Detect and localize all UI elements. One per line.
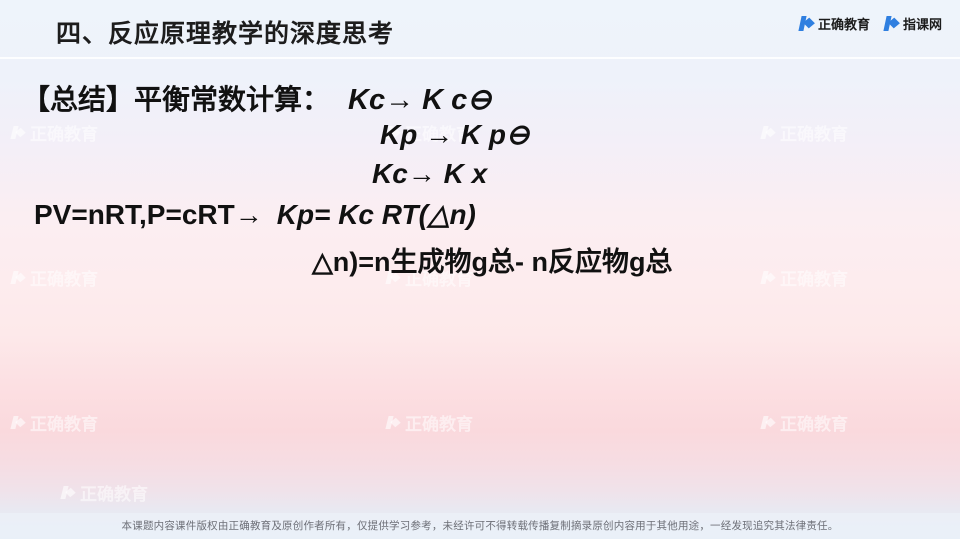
watermark-logo-icon — [60, 485, 75, 500]
brand-bar: 正确教育 指课网 — [799, 14, 942, 33]
watermark: 正确教育 — [760, 120, 848, 145]
brand-zhike: 指课网 — [884, 14, 942, 33]
watermark-logo-icon — [760, 270, 775, 285]
watermark: 正确教育 — [60, 480, 148, 505]
watermark: 正确教育 — [10, 120, 98, 145]
watermark-label: 正确教育 — [30, 410, 98, 435]
equation-kc-ctheta: Kc→ K c⊖ — [348, 84, 492, 116]
slide-canvas: 正确教育 正确教育 正确教育 正确教育 正确教育 正确教育 正确教育 正确教育 … — [0, 0, 960, 539]
watermark-logo-icon — [10, 125, 25, 140]
watermark-logo-icon — [760, 125, 775, 140]
ideal-gas-label: PV=nRT,P=cRT→ — [34, 199, 263, 230]
watermark-label: 正确教育 — [30, 120, 98, 145]
watermark-logo-icon — [760, 415, 775, 430]
footer-copyright: 本课题内容课件版权由正确教育及原创作者所有，仅提供学习参考，未经许可不得转载传播… — [0, 518, 960, 533]
equation-kp-ptheta: Kp → K p⊖ — [380, 118, 529, 151]
watermark-logo-icon — [10, 270, 25, 285]
page-title: 四、反应原理教学的深度思考 — [56, 14, 394, 50]
brand-zhengque: 正确教育 — [799, 14, 870, 33]
watermark-label: 正确教育 — [780, 265, 848, 290]
zhike-logo-icon — [884, 16, 899, 31]
equation-kp-kc-rt: Kp= Kc RT(△n) — [277, 199, 476, 230]
watermark: 正确教育 — [10, 265, 98, 290]
watermark-logo-icon — [385, 415, 400, 430]
zhengque-logo-icon — [799, 16, 814, 31]
watermark: 正确教育 — [385, 410, 473, 435]
watermark: 正确教育 — [760, 265, 848, 290]
delta-n-definition: △n)=n生成物g总- n反应物g总 — [312, 240, 672, 279]
watermark-label: 正确教育 — [80, 480, 148, 505]
watermark-label: 正确教育 — [780, 120, 848, 145]
summary-label: 【总结】平衡常数计算： — [22, 84, 330, 115]
header-divider — [0, 57, 960, 59]
watermark-label: 正确教育 — [405, 410, 473, 435]
summary-line: 【总结】平衡常数计算：Kc→ K c⊖ — [22, 78, 492, 118]
watermark-logo-icon — [10, 415, 25, 430]
watermark: 正确教育 — [10, 410, 98, 435]
brand-label: 正确教育 — [818, 14, 870, 33]
watermark-label: 正确教育 — [780, 410, 848, 435]
watermark: 正确教育 — [760, 410, 848, 435]
equation-kc-kx: Kc→ K x — [372, 158, 487, 190]
ideal-gas-line: PV=nRT,P=cRT→Kp= Kc RT(△n) — [34, 198, 476, 231]
watermark-label: 正确教育 — [30, 265, 98, 290]
brand-label: 指课网 — [903, 14, 942, 33]
